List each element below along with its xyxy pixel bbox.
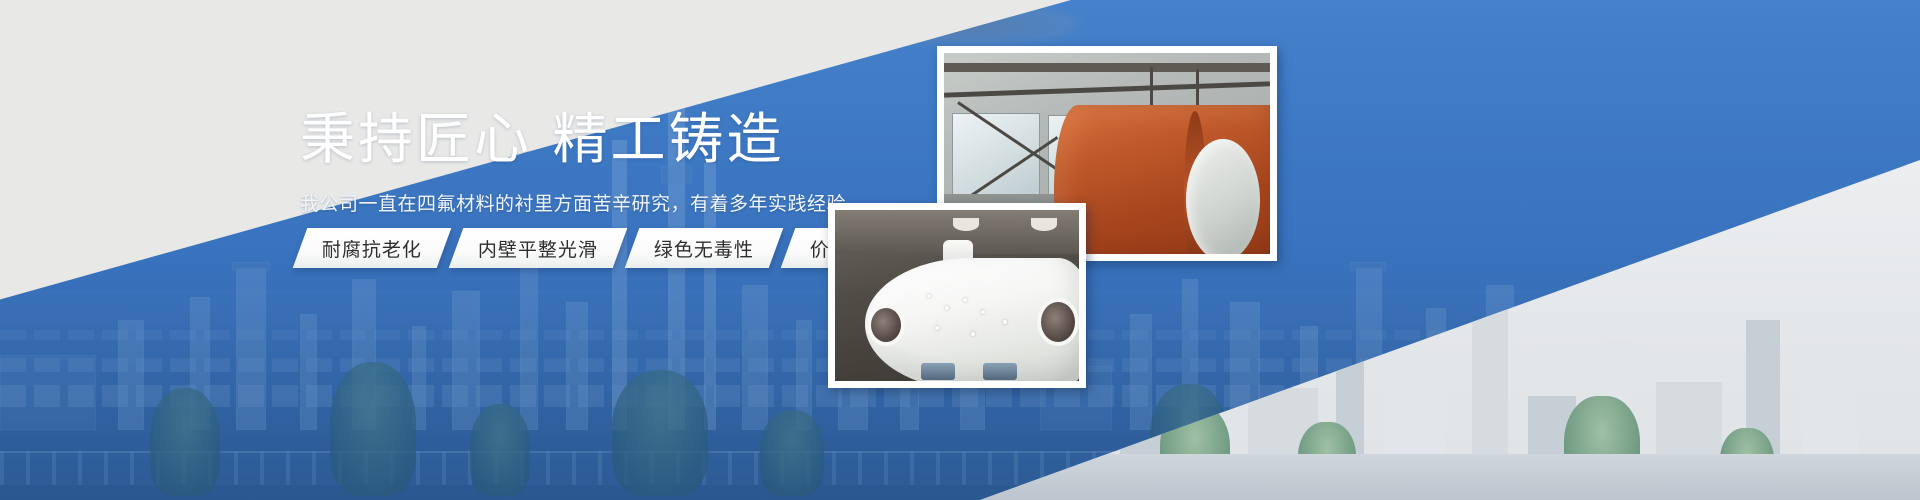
hero-banner: 秉持匠心 精工铸造 我公司一直在四氟材料的衬里方面苦辛研究，有着多年实践经验 耐… [0,0,1920,500]
feature-tag-2[interactable]: 绿色无毒性 [625,228,784,268]
tank-end-nozzle [1041,302,1075,342]
feature-tag-1[interactable]: 内壁平整光滑 [449,228,628,268]
tank-support-foot [921,363,955,380]
reactor-lining-face [1186,139,1260,254]
tank-support-foot [983,363,1017,380]
banner-subtitle: 我公司一直在四氟材料的衬里方面苦辛研究，有着多年实践经验 [300,189,860,216]
feature-tag-0[interactable]: 耐腐抗老化 [293,228,452,268]
feature-tag-label: 耐腐抗老化 [322,235,422,262]
tank-bolt [963,298,967,302]
white-lined-tank-photo[interactable] [828,203,1086,388]
page-title: 秉持匠心 精工铸造 [300,110,860,169]
tank-bolt [1003,320,1007,324]
feature-tag-label: 内壁平整光滑 [478,235,598,262]
tank-bolt [935,326,939,330]
banner-copy: 秉持匠心 精工铸造 我公司一直在四氟材料的衬里方面苦辛研究，有着多年实践经验 [300,110,860,216]
tank-bolt [981,310,985,314]
ceiling-lamp-icon [953,218,979,231]
tank-bolt [971,332,975,336]
tank-side-nozzle [871,308,901,342]
photo-inner [835,210,1079,381]
ceiling-lamp-icon [1031,218,1057,231]
roof-beam [944,63,1270,72]
tank-bolt [927,294,931,298]
tank-bolt [945,306,949,310]
feature-tag-label: 绿色无毒性 [654,235,754,262]
